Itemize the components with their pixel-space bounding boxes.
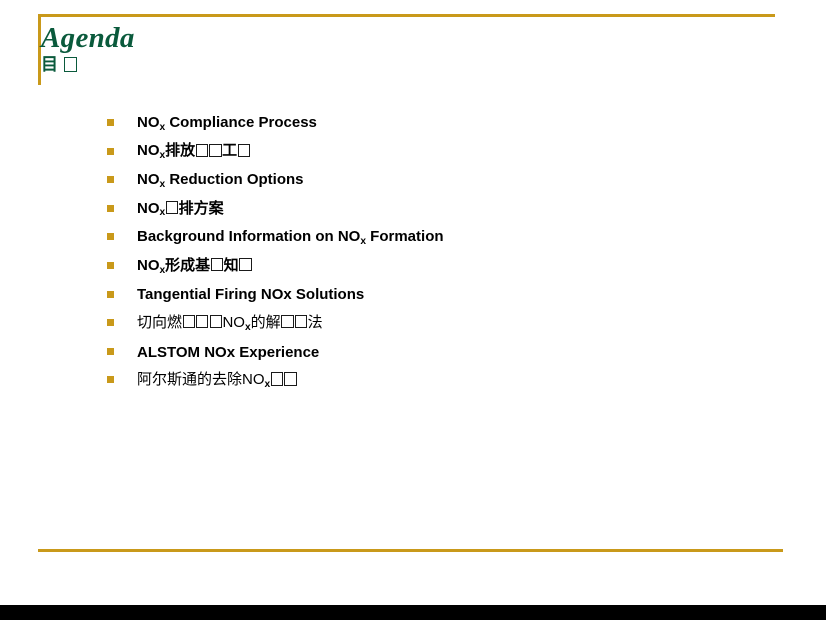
list-item[interactable]: 切向燃NOx的解法 [107, 309, 797, 338]
han-text: 的解 [251, 313, 281, 331]
bullet-square-icon [107, 233, 114, 240]
list-item-label: ALSTOM NOx Experience [137, 343, 319, 362]
missing-glyph-box [209, 144, 221, 157]
list-item[interactable]: Tangential Firing NOx Solutions [107, 281, 797, 310]
page-title: Agenda [41, 22, 741, 54]
list-item-label: NOx排方案 [137, 199, 224, 220]
subscript-x: x [360, 236, 366, 247]
page-subtitle: 目 [41, 54, 741, 76]
missing-glyph-box [210, 315, 222, 328]
bullet-square-icon [107, 348, 114, 355]
subscript-x: x [160, 150, 166, 161]
list-item-label: 切向燃NOx的解法 [137, 313, 323, 334]
missing-glyph-box [166, 201, 178, 214]
list-item-label: NOx排放工 [137, 141, 251, 162]
subscript-x: x [160, 265, 166, 276]
han-text: 排方案 [179, 199, 224, 217]
missing-glyph-box [239, 258, 251, 271]
subtitle-tofu-glyph [64, 57, 78, 72]
han-text: 切向燃 [137, 313, 182, 331]
list-item[interactable]: NOx Compliance Process [107, 109, 797, 138]
list-item[interactable]: Background Information on NOx Formation [107, 223, 797, 252]
list-item[interactable]: ALSTOM NOx Experience [107, 338, 797, 367]
missing-glyph-box [281, 315, 293, 328]
bullet-square-icon [107, 176, 114, 183]
han-text: 知 [224, 256, 239, 274]
list-item[interactable]: 阿尔斯通的去除NOx [107, 366, 797, 395]
agenda-bullet-list: NOx Compliance ProcessNOx排放工NOx Reductio… [107, 109, 797, 395]
subscript-x: x [160, 179, 166, 190]
han-text: 工 [222, 141, 237, 159]
missing-glyph-box [271, 372, 283, 385]
subtitle-han-glyph: 目 [41, 55, 60, 75]
list-item-label: NOx Reduction Options [137, 170, 304, 191]
han-text: 法 [308, 313, 323, 331]
list-item-label: Background Information on NOx Formation [137, 227, 444, 248]
bullet-square-icon [107, 262, 114, 269]
list-item[interactable]: NOx排放工 [107, 138, 797, 167]
list-item[interactable]: NOx形成基知 [107, 252, 797, 281]
missing-glyph-box [183, 315, 195, 328]
han-text: 排放 [165, 141, 195, 159]
missing-glyph-box [211, 258, 223, 271]
missing-glyph-box [238, 144, 250, 157]
list-item-label: NOx Compliance Process [137, 113, 317, 134]
han-text: 形成基 [165, 256, 210, 274]
han-text: 阿尔斯通的去除 [137, 370, 242, 388]
subscript-x: x [160, 122, 166, 133]
slide-canvas: Agenda 目 NOx Compliance ProcessNOx排放工NOx… [0, 0, 826, 620]
bottom-black-bar [0, 605, 826, 620]
list-item-label: 阿尔斯通的去除NOx [137, 370, 297, 391]
missing-glyph-box [295, 315, 307, 328]
missing-glyph-box [196, 315, 208, 328]
missing-glyph-box [284, 372, 296, 385]
bullet-square-icon [107, 148, 114, 155]
bullet-square-icon [107, 376, 114, 383]
list-item[interactable]: NOx排方案 [107, 195, 797, 224]
title-block: Agenda 目 [41, 22, 741, 76]
missing-glyph-box [196, 144, 208, 157]
subscript-x: x [160, 207, 166, 218]
bullet-square-icon [107, 291, 114, 298]
bullet-square-icon [107, 119, 114, 126]
list-item[interactable]: NOx Reduction Options [107, 166, 797, 195]
top-accent-rule [38, 14, 775, 17]
list-item-label: NOx形成基知 [137, 256, 252, 277]
list-item-label: Tangential Firing NOx Solutions [137, 285, 364, 304]
bullet-square-icon [107, 205, 114, 212]
bullet-square-icon [107, 319, 114, 326]
subscript-x: x [265, 379, 271, 390]
subscript-x: x [245, 322, 251, 333]
bottom-accent-rule [38, 549, 783, 552]
